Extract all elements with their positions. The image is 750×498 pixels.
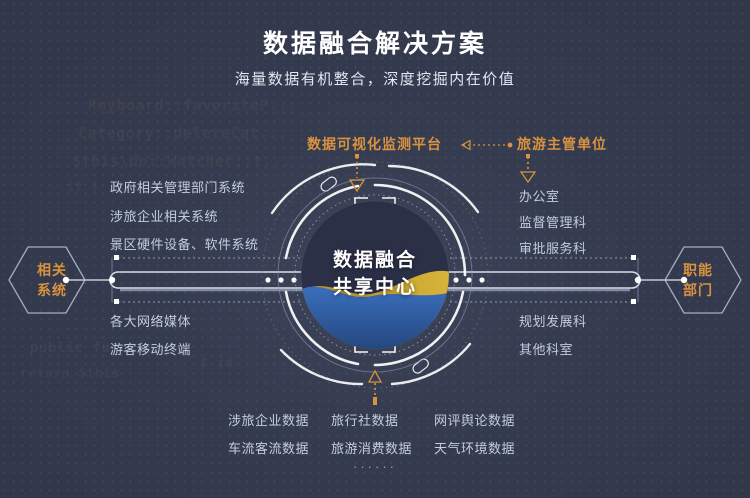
label-tourism-authority: 旅游主管单位 (517, 134, 607, 154)
arrow-authority-to-office (521, 154, 535, 182)
right-lower-item-1: 其他科室 (519, 339, 573, 358)
watermark-code-line-3: $this\do::Watcher::t... (72, 152, 292, 170)
arrow-data-to-center (369, 371, 381, 401)
left-lower-item-1: 游客移动终端 (110, 339, 191, 358)
left-upper-item-0: 政府相关管理部门系统 (110, 177, 245, 196)
bottom-item-1-2: 天气环境数据 (434, 438, 515, 457)
watermark-code-line-7: $ id (200, 356, 234, 371)
center-line-1: 数据融合 (333, 250, 417, 271)
bottom-item-0-2: 网评舆论数据 (434, 410, 515, 429)
watermark-code-line-1: Keyboard::favoriteP... (88, 96, 298, 114)
right-upper-item-1: 监督管理科 (519, 212, 587, 231)
center-line-2: 共享中心 (333, 277, 417, 298)
right-lower-item-0: 规划发展科 (519, 311, 587, 330)
bottom-item-1-0: 车流客流数据 (228, 438, 309, 457)
infographic-canvas: Keyboard::favoriteP... Category::deleteC… (0, 0, 750, 498)
watermark-code-line-6: return $this (20, 366, 120, 381)
page-subtitle: 海量数据有机整合，深度挖掘内在价值 (0, 68, 750, 89)
bottom-ellipsis: ······ (0, 459, 750, 474)
bottom-item-1-1: 旅游消费数据 (331, 438, 412, 457)
bottom-item-0-1: 旅行社数据 (331, 410, 399, 429)
bottom-item-0-0: 涉旅企业数据 (228, 410, 309, 429)
left-upper-item-1: 涉旅企业相关系统 (110, 206, 218, 225)
top-label-link (462, 141, 512, 150)
bottom-tick-marker (373, 400, 377, 405)
watermark-code-line-2: Category::deleteCat... (78, 124, 288, 142)
right-upper-item-0: 办公室 (519, 186, 560, 205)
page-title: 数据融合解决方案 (0, 24, 750, 60)
arrow-platform-to-center (350, 154, 364, 191)
center-sphere-label: 数据融合 共享中心 (0, 247, 750, 301)
label-visualization-platform: 数据可视化监测平台 (307, 134, 442, 154)
left-lower-item-0: 各大网络媒体 (110, 311, 191, 330)
